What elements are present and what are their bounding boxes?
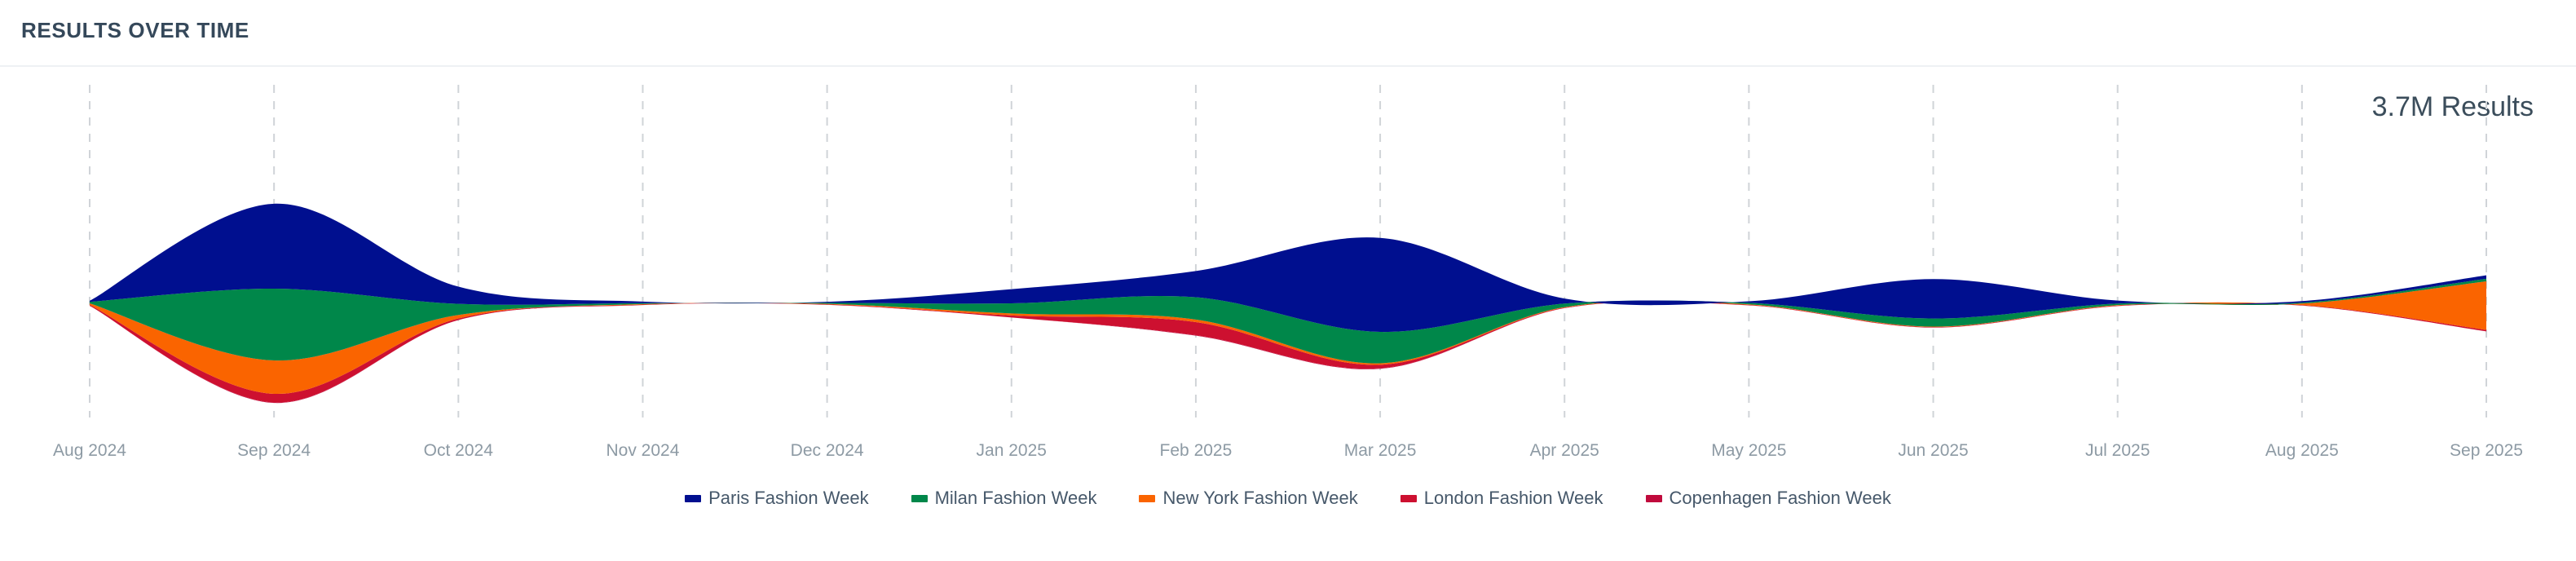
legend-item-label: New York Fashion Week bbox=[1162, 488, 1357, 509]
streamgraph-plot[interactable] bbox=[0, 67, 2576, 438]
results-over-time-widget: RESULTS OVER TIME 3.7M Results Aug 2024S… bbox=[0, 0, 2576, 561]
legend-item[interactable]: Milan Fashion Week bbox=[911, 488, 1097, 509]
x-axis-tick-label: Dec 2024 bbox=[791, 441, 864, 461]
legend-swatch-icon bbox=[1139, 495, 1155, 502]
x-axis-tick-label: Jan 2025 bbox=[977, 441, 1047, 461]
x-axis-tick-label: Mar 2025 bbox=[1344, 441, 1417, 461]
legend-item[interactable]: London Fashion Week bbox=[1400, 488, 1603, 509]
x-axis-tick-label: Oct 2024 bbox=[424, 441, 493, 461]
x-axis-tick-label: Sep 2025 bbox=[2450, 441, 2523, 461]
x-axis-tick-label: Apr 2025 bbox=[1530, 441, 1599, 461]
legend-swatch-icon bbox=[685, 495, 701, 502]
stream-layers-group[interactable] bbox=[90, 204, 2486, 403]
x-axis: Aug 2024Sep 2024Oct 2024Nov 2024Dec 2024… bbox=[0, 430, 2576, 467]
x-axis-tick-label: Aug 2025 bbox=[2265, 441, 2339, 461]
legend-item-label: Milan Fashion Week bbox=[935, 488, 1097, 509]
legend-swatch-icon bbox=[1400, 495, 1417, 502]
x-axis-tick-label: May 2025 bbox=[1711, 441, 1786, 461]
chart-legend[interactable]: Paris Fashion WeekMilan Fashion WeekNew … bbox=[0, 479, 2576, 517]
x-axis-tick-label: Feb 2025 bbox=[1160, 441, 1233, 461]
legend-item[interactable]: Copenhagen Fashion Week bbox=[1646, 488, 1891, 509]
x-axis-tick-label: Sep 2024 bbox=[237, 441, 311, 461]
x-axis-tick-label: Jul 2025 bbox=[2085, 441, 2150, 461]
x-axis-tick-label: Nov 2024 bbox=[607, 441, 680, 461]
legend-item-label: Copenhagen Fashion Week bbox=[1670, 488, 1891, 509]
legend-swatch-icon bbox=[911, 495, 928, 502]
legend-item-label: Paris Fashion Week bbox=[708, 488, 868, 509]
streamgraph-svg[interactable] bbox=[0, 67, 2576, 438]
legend-item[interactable]: Paris Fashion Week bbox=[685, 488, 868, 509]
legend-item[interactable]: New York Fashion Week bbox=[1139, 488, 1357, 509]
legend-item-label: London Fashion Week bbox=[1424, 488, 1603, 509]
x-axis-tick-label: Jun 2025 bbox=[1898, 441, 1968, 461]
page-title: RESULTS OVER TIME bbox=[21, 18, 249, 43]
widget-header: RESULTS OVER TIME bbox=[0, 0, 2576, 67]
legend-swatch-icon bbox=[1646, 495, 1662, 502]
x-axis-tick-label: Aug 2024 bbox=[53, 441, 126, 461]
